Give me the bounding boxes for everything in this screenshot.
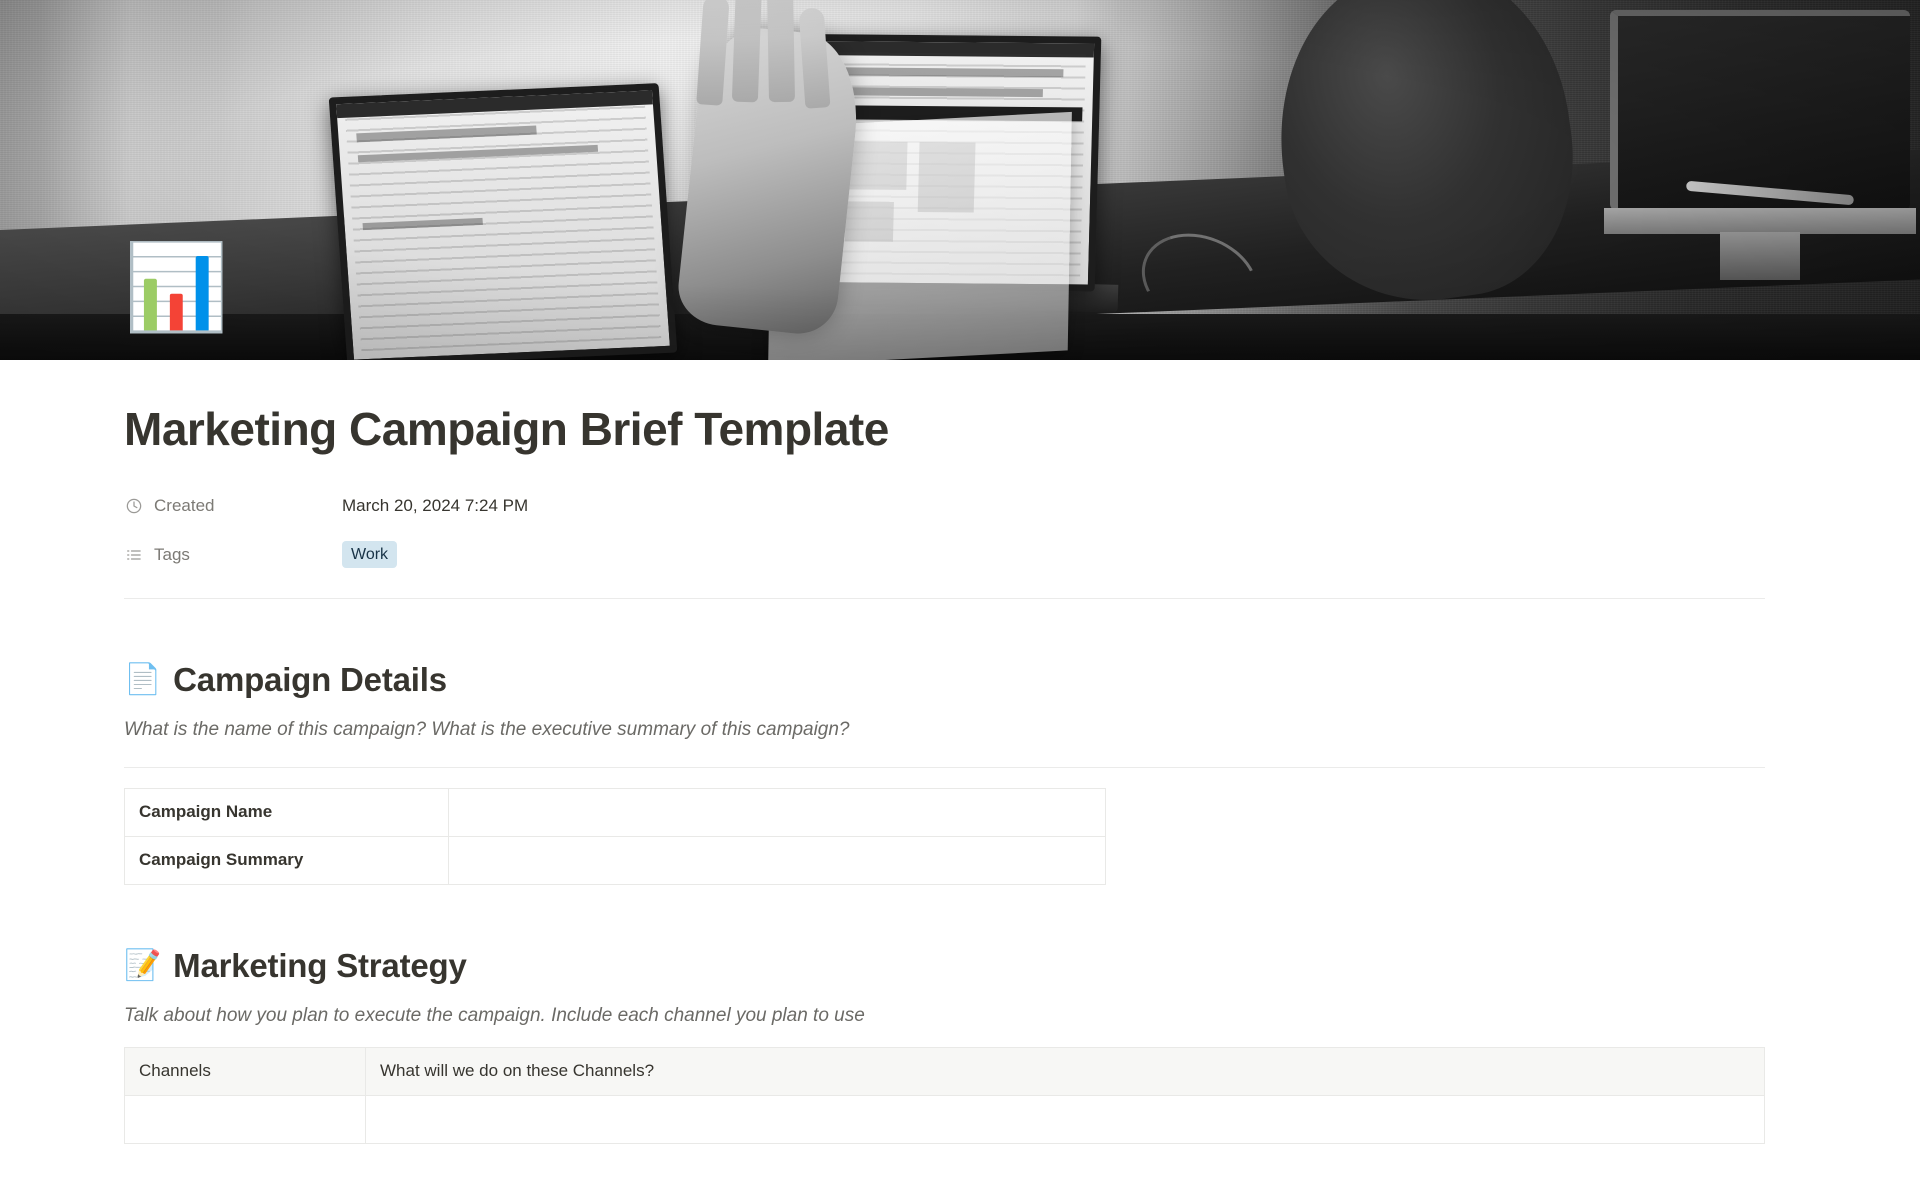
section-divider — [124, 767, 1765, 768]
property-label-text: Created — [154, 496, 214, 516]
property-label-tags: Tags — [124, 545, 342, 565]
property-row-created[interactable]: Created March 20, 2024 7:24 PM — [124, 489, 1765, 523]
photo-vignette — [0, 0, 1920, 360]
page-cover-banner[interactable] — [0, 0, 1920, 360]
table-header-row: Channels What will we do on these Channe… — [125, 1047, 1765, 1095]
table-row[interactable]: Campaign Name — [125, 788, 1106, 836]
section-heading-marketing-strategy[interactable]: 📝 Marketing Strategy — [124, 947, 1765, 985]
section-campaign-details: 📄 Campaign Details What is the name of t… — [124, 661, 1765, 885]
table-cell-key[interactable] — [125, 1095, 366, 1143]
table-column-header-channels[interactable]: Channels — [125, 1047, 366, 1095]
property-row-tags[interactable]: Tags Work — [124, 538, 1765, 572]
page-facing-up-emoji: 📄 — [124, 665, 161, 695]
table-cell-key[interactable]: Campaign Name — [125, 788, 449, 836]
property-value-tags[interactable]: Work — [342, 541, 397, 568]
table-row[interactable]: Campaign Summary — [125, 836, 1106, 884]
section-marketing-strategy: 📝 Marketing Strategy Talk about how you … — [124, 947, 1765, 1144]
page-body: 📊 Marketing Campaign Brief Template Crea… — [0, 360, 1920, 1144]
status-badge[interactable]: Work — [342, 541, 397, 568]
properties-divider — [124, 598, 1765, 599]
section-heading-text: Campaign Details — [173, 661, 447, 699]
section-heading-text: Marketing Strategy — [173, 947, 466, 985]
bar-chart-emoji[interactable]: 📊 — [124, 237, 224, 337]
section-caption-campaign-details[interactable]: What is the name of this campaign? What … — [124, 719, 1765, 741]
property-label-created: Created — [124, 496, 342, 516]
property-value-created[interactable]: March 20, 2024 7:24 PM — [342, 496, 528, 516]
page-content-column: 📊 Marketing Campaign Brief Template Crea… — [124, 360, 1765, 1144]
section-caption-marketing-strategy[interactable]: Talk about how you plan to execute the c… — [124, 1005, 1765, 1027]
table-cell-value[interactable] — [449, 788, 1106, 836]
section-heading-campaign-details[interactable]: 📄 Campaign Details — [124, 661, 1765, 699]
clock-icon — [124, 496, 144, 516]
table-column-header-actions[interactable]: What will we do on these Channels? — [366, 1047, 1765, 1095]
table-cell-value[interactable] — [449, 836, 1106, 884]
table-cell-value[interactable] — [366, 1095, 1765, 1143]
property-label-text: Tags — [154, 545, 190, 565]
page-properties: Created March 20, 2024 7:24 PM Tags Work — [124, 489, 1765, 572]
table-cell-key[interactable]: Campaign Summary — [125, 836, 449, 884]
table-row[interactable] — [125, 1095, 1765, 1143]
cover-photo — [0, 0, 1920, 360]
memo-emoji: 📝 — [124, 951, 161, 981]
table-campaign-details[interactable]: Campaign Name Campaign Summary — [124, 788, 1106, 885]
table-marketing-channels[interactable]: Channels What will we do on these Channe… — [124, 1047, 1765, 1144]
page-title[interactable]: Marketing Campaign Brief Template — [124, 360, 1765, 455]
list-icon — [124, 545, 144, 565]
